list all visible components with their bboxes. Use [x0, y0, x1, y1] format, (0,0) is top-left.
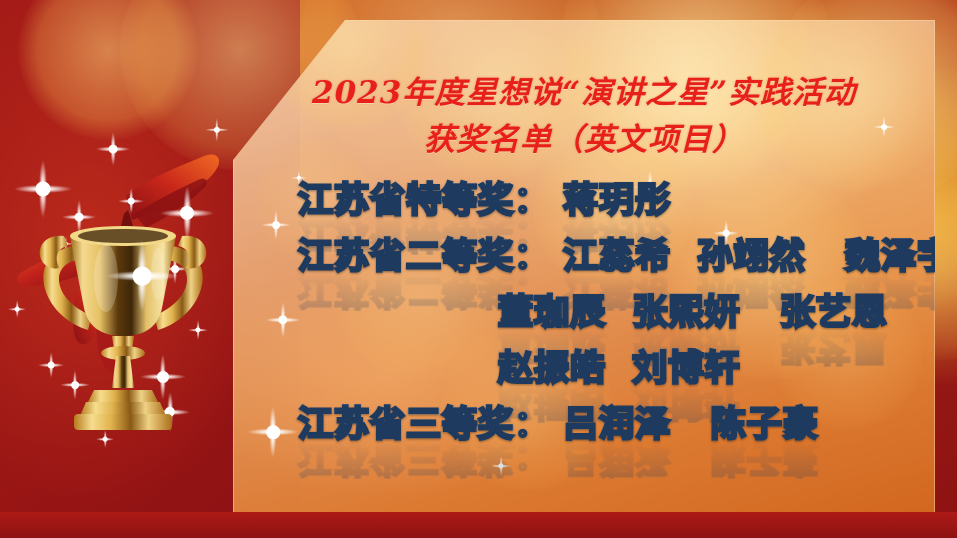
- award-row: 赵振皓 刘博轩 赵振皓 刘博轩: [233, 348, 935, 404]
- trophy-base: [80, 402, 166, 416]
- trophy-icon: [8, 150, 238, 430]
- award-row: 江苏省二等奖： 江蕊希 孙翊然 魏泽宇 江苏省二等奖： 江蕊希 孙翊然 魏泽宇: [233, 236, 935, 292]
- trophy-base: [74, 414, 172, 430]
- award-row: 江苏省特等奖： 蒋玥彤 江苏省特等奖： 蒋玥彤: [233, 180, 935, 236]
- award-row-text: 江苏省二等奖： 江蕊希 孙翊然 魏泽宇: [233, 236, 935, 278]
- bottom-border: [0, 512, 957, 538]
- slide-canvas: 2023年度星想说“演讲之星”实践活动 获奖名单（英文项目） 江苏省特等奖： 蒋…: [0, 0, 957, 538]
- award-row-text: 赵振皓 刘博轩: [233, 348, 935, 390]
- award-row-text: 江苏省特等奖： 蒋玥彤: [233, 180, 935, 222]
- award-row: 董珈辰 张熙妍 张艺恩 董珈辰 张熙妍 张艺恩: [233, 292, 935, 348]
- award-list: 江苏省特等奖： 蒋玥彤 江苏省特等奖： 蒋玥彤 江苏省二等奖： 江蕊希 孙翊然 …: [233, 180, 935, 460]
- award-row-text: 董珈辰 张熙妍 张艺恩: [233, 292, 935, 334]
- page-title: 2023年度星想说“演讲之星”实践活动 获奖名单（英文项目）: [233, 70, 935, 164]
- content-panel: 2023年度星想说“演讲之星”实践活动 获奖名单（英文项目） 江苏省特等奖： 蒋…: [233, 20, 935, 518]
- trophy-base: [88, 390, 158, 402]
- award-row: 江苏省三等奖： 吕润泽 陈子豪 江苏省三等奖： 吕润泽 陈子豪: [233, 404, 935, 460]
- award-row-text: 江苏省三等奖： 吕润泽 陈子豪: [233, 404, 935, 446]
